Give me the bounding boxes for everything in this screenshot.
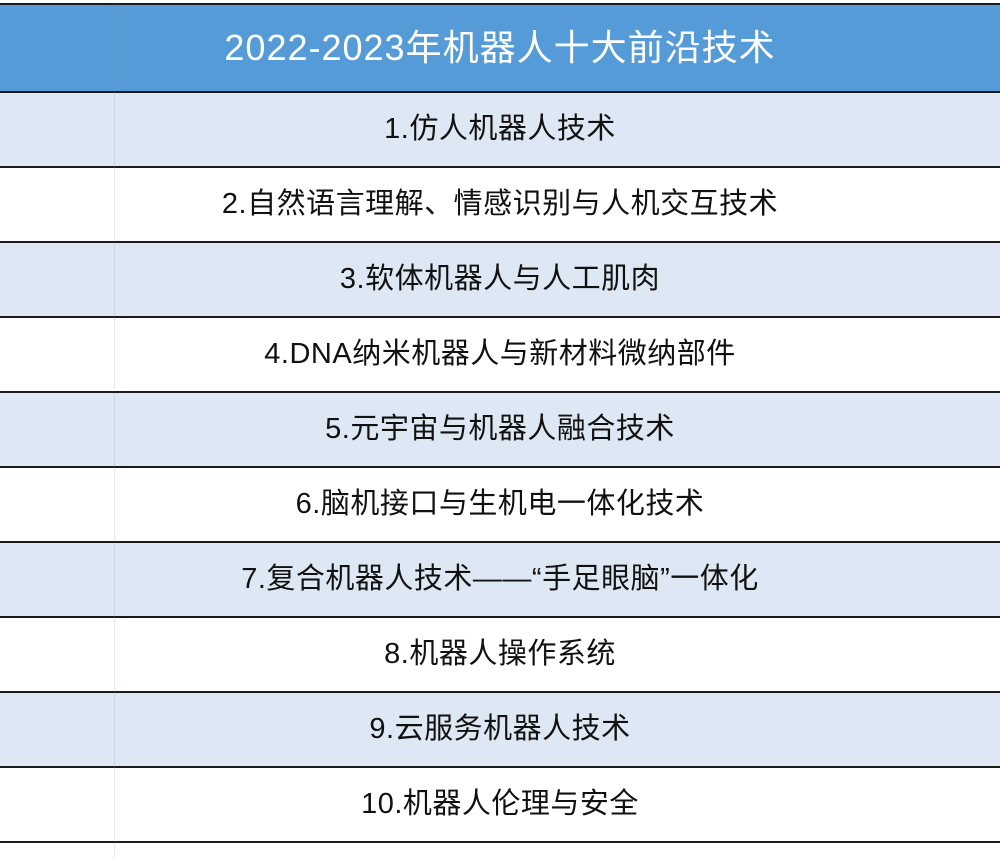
table-header-row: 2022-2023年机器人十大前沿技术 [0,4,1000,92]
table-head: 2022-2023年机器人十大前沿技术 [0,4,1000,92]
technology-item-6: 6.脑机接口与生机电一体化技术 [0,467,1000,542]
table-row: 4.DNA纳米机器人与新材料微纳部件 [0,317,1000,392]
table-row: 5.元宇宙与机器人融合技术 [0,392,1000,467]
table-title: 2022-2023年机器人十大前沿技术 [0,4,1000,92]
table-row: 9.云服务机器人技术 [0,692,1000,767]
top-technologies-table: 2022-2023年机器人十大前沿技术 1.仿人机器人技术 2.自然语言理解、情… [0,3,1000,843]
technology-item-5: 5.元宇宙与机器人融合技术 [0,392,1000,467]
table-row: 1.仿人机器人技术 [0,92,1000,167]
table-row: 10.机器人伦理与安全 [0,767,1000,842]
technology-item-1: 1.仿人机器人技术 [0,92,1000,167]
technology-item-2: 2.自然语言理解、情感识别与人机交互技术 [0,167,1000,242]
technology-item-3: 3.软体机器人与人工肌肉 [0,242,1000,317]
technology-item-10: 10.机器人伦理与安全 [0,767,1000,842]
technology-item-7: 7.复合机器人技术——“手足眼脑”一体化 [0,542,1000,617]
table-row: 6.脑机接口与生机电一体化技术 [0,467,1000,542]
table-body: 1.仿人机器人技术 2.自然语言理解、情感识别与人机交互技术 3.软体机器人与人… [0,92,1000,842]
technology-item-9: 9.云服务机器人技术 [0,692,1000,767]
table-row: 3.软体机器人与人工肌肉 [0,242,1000,317]
table-row: 2.自然语言理解、情感识别与人机交互技术 [0,167,1000,242]
table-row: 7.复合机器人技术——“手足眼脑”一体化 [0,542,1000,617]
technology-item-8: 8.机器人操作系统 [0,617,1000,692]
table-row: 8.机器人操作系统 [0,617,1000,692]
technology-item-4: 4.DNA纳米机器人与新材料微纳部件 [0,317,1000,392]
top-technologies-table-container: 2022-2023年机器人十大前沿技术 1.仿人机器人技术 2.自然语言理解、情… [0,0,1000,860]
